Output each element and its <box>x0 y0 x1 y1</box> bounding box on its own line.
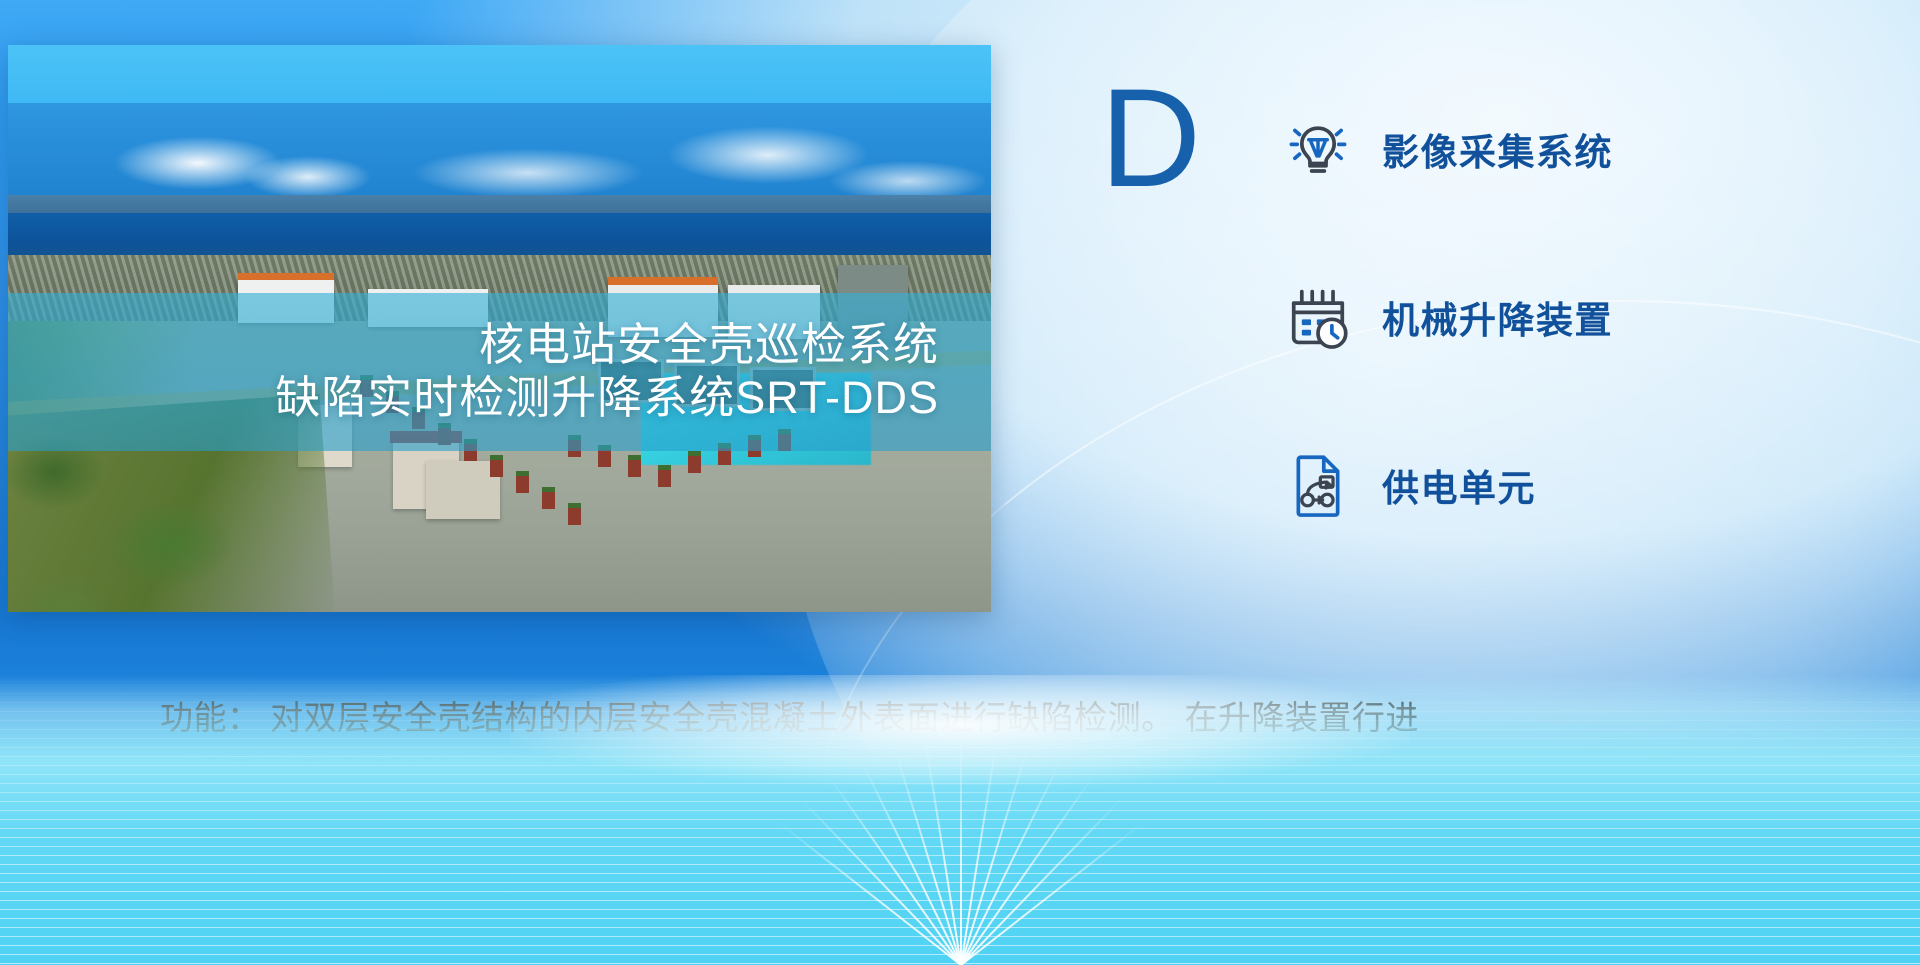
feature-label: 影像采集系统 <box>1382 122 1613 176</box>
photo-building-roof <box>608 277 718 285</box>
photo-building-roof <box>238 273 334 280</box>
section-letter: D <box>1100 68 1201 208</box>
hero-title-line-2: 缺陷实时检测升降系统SRT-DDS <box>275 372 939 425</box>
grid-vertical-lines <box>0 675 1920 965</box>
lightbulb-icon <box>1280 111 1356 187</box>
feature-list: 影像采集系统 机械升降装置 <box>1280 106 1800 528</box>
feature-item-mechanical-lift[interactable]: 机械升降装置 <box>1280 274 1800 360</box>
document-flowchart-icon <box>1280 447 1356 523</box>
feature-panel: D 影像采集系统 <box>1040 92 1800 532</box>
calendar-clock-icon <box>1280 279 1356 355</box>
perspective-grid-floor <box>0 675 1920 965</box>
photo-small-building <box>426 461 500 519</box>
feature-item-image-acquisition[interactable]: 影像采集系统 <box>1280 106 1800 192</box>
hero-title-line-1: 核电站安全壳巡检系统 <box>479 319 939 372</box>
slide-root: 核电站安全壳巡检系统 缺陷实时检测升降系统SRT-DDS D 影像采集系统 <box>0 0 1920 965</box>
hero-photo-card: 核电站安全壳巡检系统 缺陷实时检测升降系统SRT-DDS <box>8 45 991 612</box>
photo-sea <box>8 213 991 261</box>
feature-label: 供电单元 <box>1382 458 1536 512</box>
hero-title-band: 核电站安全壳巡检系统 缺陷实时检测升降系统SRT-DDS <box>8 293 991 451</box>
feature-item-power-supply[interactable]: 供电单元 <box>1280 442 1800 528</box>
feature-label: 机械升降装置 <box>1382 290 1613 344</box>
